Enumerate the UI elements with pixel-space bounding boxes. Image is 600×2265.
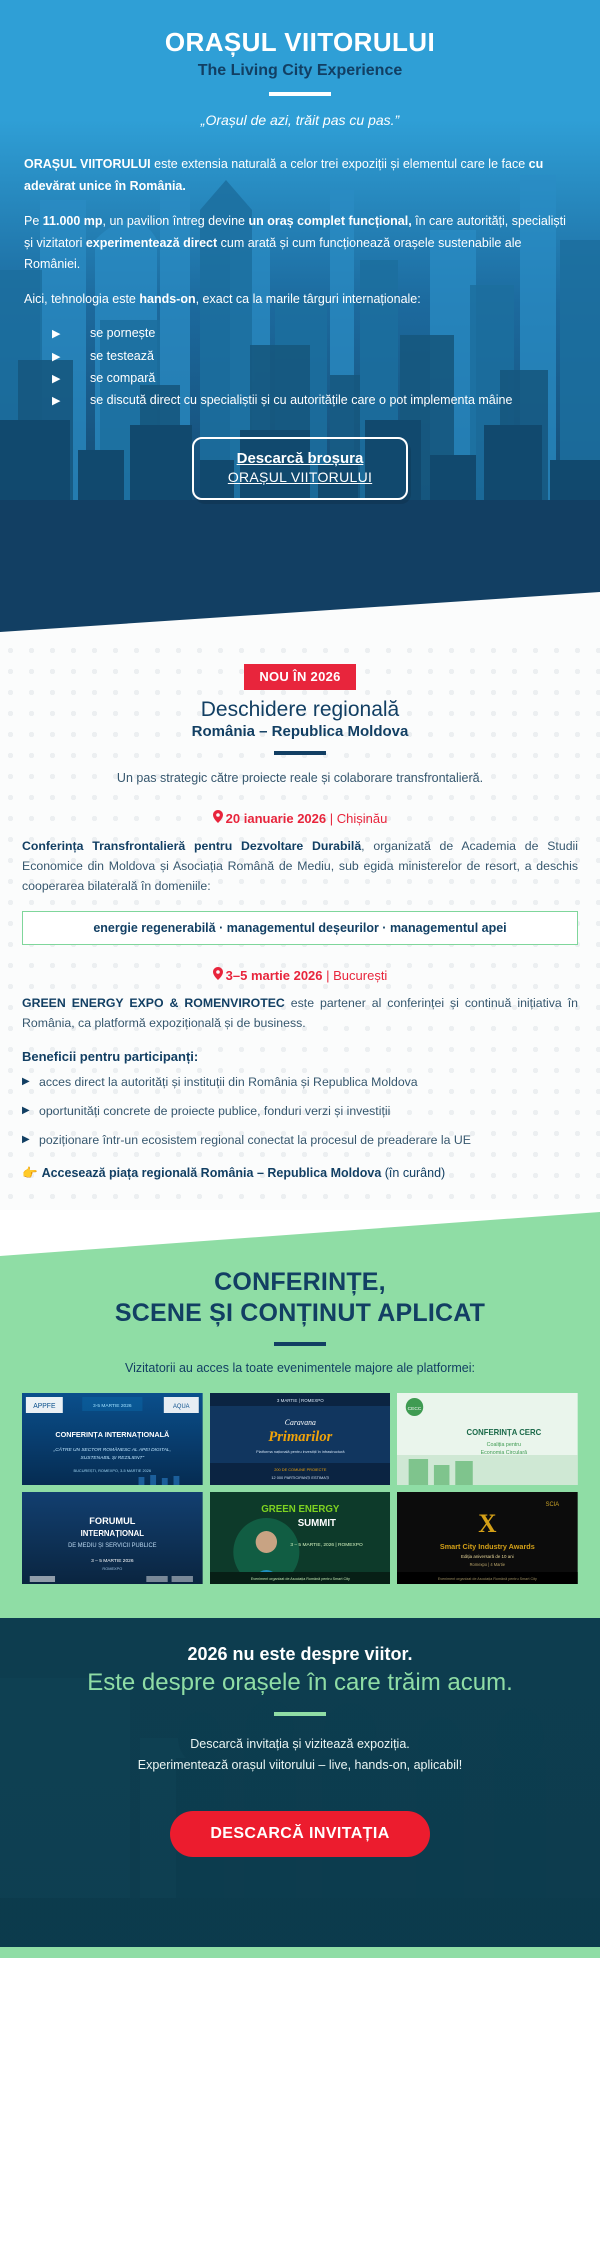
- svg-text:APPFE: APPFE: [33, 1403, 56, 1410]
- download-invitation-button[interactable]: DESCARCĂ INVITAȚIA: [170, 1811, 429, 1857]
- svg-text:X: X: [479, 1509, 498, 1538]
- svg-text:FORUMUL: FORUMUL: [89, 1516, 135, 1526]
- footer-body-line-2: Experimentează orașul viitorului – live,…: [22, 1755, 578, 1775]
- triangle-bullet-icon: ▶: [52, 393, 60, 410]
- hero-p3-b: hands-on: [139, 292, 195, 306]
- hero-section: ORAȘUL VIITORULUI The Living City Experi…: [0, 0, 600, 640]
- footer-body-line-1: Descarcă invitația și vizitează expoziți…: [22, 1734, 578, 1754]
- hero-paragraph-2: Pe 11.000 mp, un pavilion întreg devine …: [24, 211, 576, 277]
- regional-cta-bold: Accesează piața regională România – Repu…: [42, 1166, 382, 1180]
- benefit-label: poziționare într-un ecosistem regional c…: [39, 1133, 471, 1147]
- hero-paragraph-1: ORAȘUL VIITORULUI este extensia naturală…: [24, 154, 576, 198]
- svg-text:Primarilor: Primarilor: [268, 1429, 332, 1445]
- location-pin-icon: [213, 967, 223, 983]
- hero-body-text: ORAȘUL VIITORULUI este extensia naturală…: [24, 154, 576, 411]
- svg-text:ROMEXPO: ROMEXPO: [102, 1566, 122, 1571]
- svg-text:Economia Circulară: Economia Circulară: [481, 1450, 527, 1456]
- conference-card-appfe[interactable]: APPFE 3-5 MARTIE 2026 AQUA CONFERINȚA IN…: [22, 1393, 203, 1485]
- triangle-bullet-icon: ▶: [52, 326, 60, 343]
- hero-p1-rest: este extensia naturală a celor trei expo…: [151, 157, 529, 171]
- regional-lead: Un pas strategic către proiecte reale și…: [22, 769, 578, 788]
- triangle-bullet-icon: ▶: [22, 1103, 30, 1119]
- svg-text:INTERNAȚIONAL: INTERNAȚIONAL: [81, 1529, 145, 1538]
- triangle-bullet-icon: ▶: [22, 1074, 30, 1090]
- conferences-section: CONFERINȚE, SCENE ȘI CONȚINUT APLICAT Vi…: [0, 1211, 600, 1618]
- svg-text:CONFERINȚA CERC: CONFERINȚA CERC: [467, 1428, 542, 1437]
- triangle-bullet-icon: ▶: [52, 371, 60, 388]
- event-1-city: Chișinău: [337, 811, 388, 826]
- triangle-bullet-icon: ▶: [22, 1132, 30, 1148]
- svg-text:SUMMIT: SUMMIT: [297, 1518, 335, 1529]
- footer-green-bar: [0, 1947, 600, 1958]
- svg-text:Eveniment organizat de Asociaț: Eveniment organizat de Asociația Română …: [438, 1577, 537, 1581]
- event-1-body: Conferința Transfrontalieră pentru Dezvo…: [22, 837, 578, 897]
- benefit-label: oportunități concrete de proiecte public…: [39, 1104, 390, 1118]
- hero-p3-a: Aici, tehnologia este: [24, 292, 139, 306]
- download-brochure-button[interactable]: Descarcă broșura ORAȘUL VIITORULUI: [192, 437, 408, 500]
- conferences-lead: Vizitatorii au acces la toate evenimente…: [22, 1361, 578, 1375]
- hero-list-label: se compară: [90, 371, 155, 385]
- event-1-sep: |: [326, 811, 337, 826]
- page-title: ORAȘUL VIITORULUI: [24, 28, 576, 58]
- event-1-body-bold: Conferința Transfrontalieră pentru Dezvo…: [22, 839, 361, 853]
- footer-content: 2026 nu este despre viitor. Este despre …: [0, 1618, 600, 1857]
- hero-p2-c: , un pavilion întreg devine: [103, 214, 249, 228]
- svg-text:„CĂTRE UN SECTOR ROMÂNESC AL A: „CĂTRE UN SECTOR ROMÂNESC AL APEI DIGITA…: [53, 1446, 171, 1453]
- svg-text:CONFERINȚA INTERNAȚIONALĂ: CONFERINȚA INTERNAȚIONALĂ: [55, 1430, 170, 1439]
- footer-headline-2: Este despre orașele în care trăim acum.: [22, 1668, 578, 1698]
- regional-cta-soon: (în curând): [381, 1166, 445, 1180]
- svg-text:12 000 PARTICIPANȚI ESTIMAȚI: 12 000 PARTICIPANȚI ESTIMAȚI: [271, 1475, 329, 1480]
- conference-card-smart-city-awards[interactable]: SCIA X Smart City Industry Awards Ediția…: [397, 1492, 578, 1584]
- conferences-divider: [274, 1342, 326, 1346]
- conferences-inner: CONFERINȚE, SCENE ȘI CONȚINUT APLICAT Vi…: [0, 1211, 600, 1584]
- hero-paragraph-3: Aici, tehnologia este hands-on, exact ca…: [24, 289, 576, 311]
- landing-page: ORAȘUL VIITORULUI The Living City Experi…: [0, 0, 600, 2265]
- event-2-date: 3–5 martie 2026: [226, 968, 323, 983]
- hero-divider: [269, 92, 331, 96]
- footer-headline-1: 2026 nu este despre viitor.: [22, 1644, 578, 1665]
- benefits-list: ▶acces direct la autorități și instituți…: [22, 1073, 578, 1150]
- footer-cta-section: 2026 nu este despre viitor. Este despre …: [0, 1618, 600, 1958]
- event-2-body: GREEN ENERGY EXPO & ROMENVIROTEC este pa…: [22, 994, 578, 1034]
- svg-text:Eveniment organizat de Asociaț: Eveniment organizat de Asociația Română …: [250, 1577, 349, 1581]
- svg-text:Smart City Industry Awards: Smart City Industry Awards: [440, 1542, 535, 1551]
- svg-text:3-5 MARTIE 2026: 3-5 MARTIE 2026: [93, 1403, 132, 1409]
- list-item: ▶acces direct la autorități și instituți…: [22, 1073, 578, 1092]
- event-2-sep: |: [323, 968, 334, 983]
- conferences-title-line1: CONFERINȚE,: [214, 1268, 386, 1296]
- conferences-title: CONFERINȚE, SCENE ȘI CONȚINUT APLICAT: [22, 1267, 578, 1329]
- brochure-button-wrap: Descarcă broșura ORAȘUL VIITORULUI: [24, 437, 576, 500]
- hero-p2-a: Pe: [24, 214, 43, 228]
- hero-bottom-diagonal: [0, 586, 600, 640]
- list-item: ▶oportunități concrete de proiecte publi…: [22, 1102, 578, 1121]
- conference-card-green-energy-summit[interactable]: GREEN ENERGY SUMMIT 3 – 5 MARTIE, 2026 |…: [210, 1492, 391, 1584]
- hero-list-label: se discută direct cu specialiștii și cu …: [90, 393, 512, 407]
- svg-text:Platforma națională pentru inv: Platforma națională pentru investiții în…: [256, 1449, 345, 1454]
- event-2-city: București: [333, 968, 387, 983]
- svg-text:SCIA: SCIA: [546, 1502, 560, 1508]
- hero-quote: „Orașul de azi, trăit pas cu pas.”: [24, 112, 576, 128]
- svg-text:3 – 5 MARTIE 2026: 3 – 5 MARTIE 2026: [91, 1558, 134, 1564]
- benefits-title: Beneficii pentru participanți:: [22, 1049, 578, 1064]
- event-1-date-row: 20 ianuarie 2026 | Chișinău: [22, 810, 578, 826]
- triangle-bullet-icon: ▶: [52, 349, 60, 366]
- svg-text:3 – 5 MARTIE, 2026 | ROMEXPO: 3 – 5 MARTIE, 2026 | ROMEXPO: [290, 1542, 363, 1548]
- svg-text:AQUA: AQUA: [173, 1404, 190, 1410]
- list-item: ▶se testează: [52, 347, 576, 366]
- event-2-body-bold: GREEN ENERGY EXPO & ROMENVIROTEC: [22, 996, 285, 1010]
- event-2-date-row: 3–5 martie 2026 | București: [22, 967, 578, 983]
- svg-text:Romexpo | 4 Martie: Romexpo | 4 Martie: [470, 1562, 506, 1567]
- footer-body: Descarcă invitația și vizitează expoziți…: [22, 1734, 578, 1775]
- event-1-date: 20 ianuarie 2026: [226, 811, 326, 826]
- list-item: ▶se discută direct cu specialiștii și cu…: [52, 391, 576, 410]
- hero-list-label: se pornește: [90, 326, 155, 340]
- svg-text:3 MARTIE | ROMEXPO: 3 MARTIE | ROMEXPO: [277, 1398, 324, 1403]
- svg-text:Caravana: Caravana: [284, 1418, 315, 1427]
- svg-text:BUCUREȘTI, ROMEXPO, 3-5 MARTIE: BUCUREȘTI, ROMEXPO, 3-5 MARTIE 2026: [74, 1468, 152, 1473]
- badge-wrap: NOU ÎN 2026: [22, 664, 578, 690]
- svg-text:DE MEDIU ȘI SERVICII PUBLICE: DE MEDIU ȘI SERVICII PUBLICE: [68, 1543, 157, 1549]
- list-item: ▶se compară: [52, 369, 576, 388]
- conferences-title-line2: SCENE ȘI CONȚINUT APLICAT: [115, 1299, 485, 1327]
- pointing-hand-icon: 👉: [22, 1166, 38, 1180]
- conference-card-forumul-international[interactable]: FORUMUL INTERNAȚIONAL DE MEDIU ȘI SERVIC…: [22, 1492, 203, 1584]
- hero-p2-f: experimentează direct: [86, 236, 217, 250]
- hero-p1-lead: ORAȘUL VIITORULUI: [24, 157, 151, 171]
- list-item: ▶se pornește: [52, 324, 576, 343]
- hero-p2-d: un oraș complet funcțional,: [248, 214, 411, 228]
- regional-cta-line[interactable]: 👉Accesează piața regională România – Rep…: [22, 1166, 578, 1181]
- status-badge: NOU ÎN 2026: [244, 664, 355, 690]
- hero-list-label: se testează: [90, 349, 154, 363]
- footer-button-wrap: DESCARCĂ INVITAȚIA: [22, 1811, 578, 1857]
- list-item: ▶poziționare într-un ecosistem regional …: [22, 1131, 578, 1150]
- hero-content: ORAȘUL VIITORULUI The Living City Experi…: [0, 0, 600, 500]
- regional-divider: [274, 751, 326, 755]
- benefit-label: acces direct la autorități și instituții…: [39, 1075, 418, 1089]
- regional-opening-section: NOU ÎN 2026 Deschidere regională România…: [0, 640, 600, 1211]
- svg-text:GREEN ENERGY: GREEN ENERGY: [261, 1504, 340, 1515]
- hero-subtitle: The Living City Experience: [24, 62, 576, 80]
- domains-box: energie regenerabilă · managementul deșe…: [22, 911, 578, 945]
- svg-text:Ediția aniversară de 10 ani: Ediția aniversară de 10 ani: [461, 1554, 514, 1559]
- svg-text:SUSTENABIL ȘI REZILIENT”: SUSTENABIL ȘI REZILIENT”: [81, 1455, 145, 1461]
- location-pin-icon: [213, 810, 223, 826]
- hero-feature-list: ▶se pornește ▶se testează ▶se compară ▶s…: [52, 324, 576, 411]
- conference-card-caravana-primarilor[interactable]: 3 MARTIE | ROMEXPO Caravana Primarilor P…: [210, 1393, 391, 1485]
- hero-p3-c: , exact ca la marile târguri internațion…: [196, 292, 421, 306]
- brochure-button-line2: ORAȘUL VIITORULUI: [228, 468, 372, 486]
- regional-subtitle: România – Republica Moldova: [22, 723, 578, 740]
- svg-text:Coaliția pentru: Coaliția pentru: [487, 1442, 521, 1448]
- brochure-button-line1: Descarcă broșura: [228, 450, 372, 468]
- footer-divider: [274, 1712, 326, 1716]
- conference-cards-grid: APPFE 3-5 MARTIE 2026 AQUA CONFERINȚA IN…: [22, 1393, 578, 1584]
- conference-card-cerc[interactable]: CECC CONFERINȚA CERC Coaliția pentru Eco…: [397, 1393, 578, 1485]
- svg-text:CECC: CECC: [408, 1406, 422, 1412]
- regional-title: Deschidere regională: [22, 698, 578, 722]
- svg-text:200 DE COMUNE PROIECTE: 200 DE COMUNE PROIECTE: [274, 1467, 327, 1472]
- hero-p2-b: 11.000 mp: [43, 214, 103, 228]
